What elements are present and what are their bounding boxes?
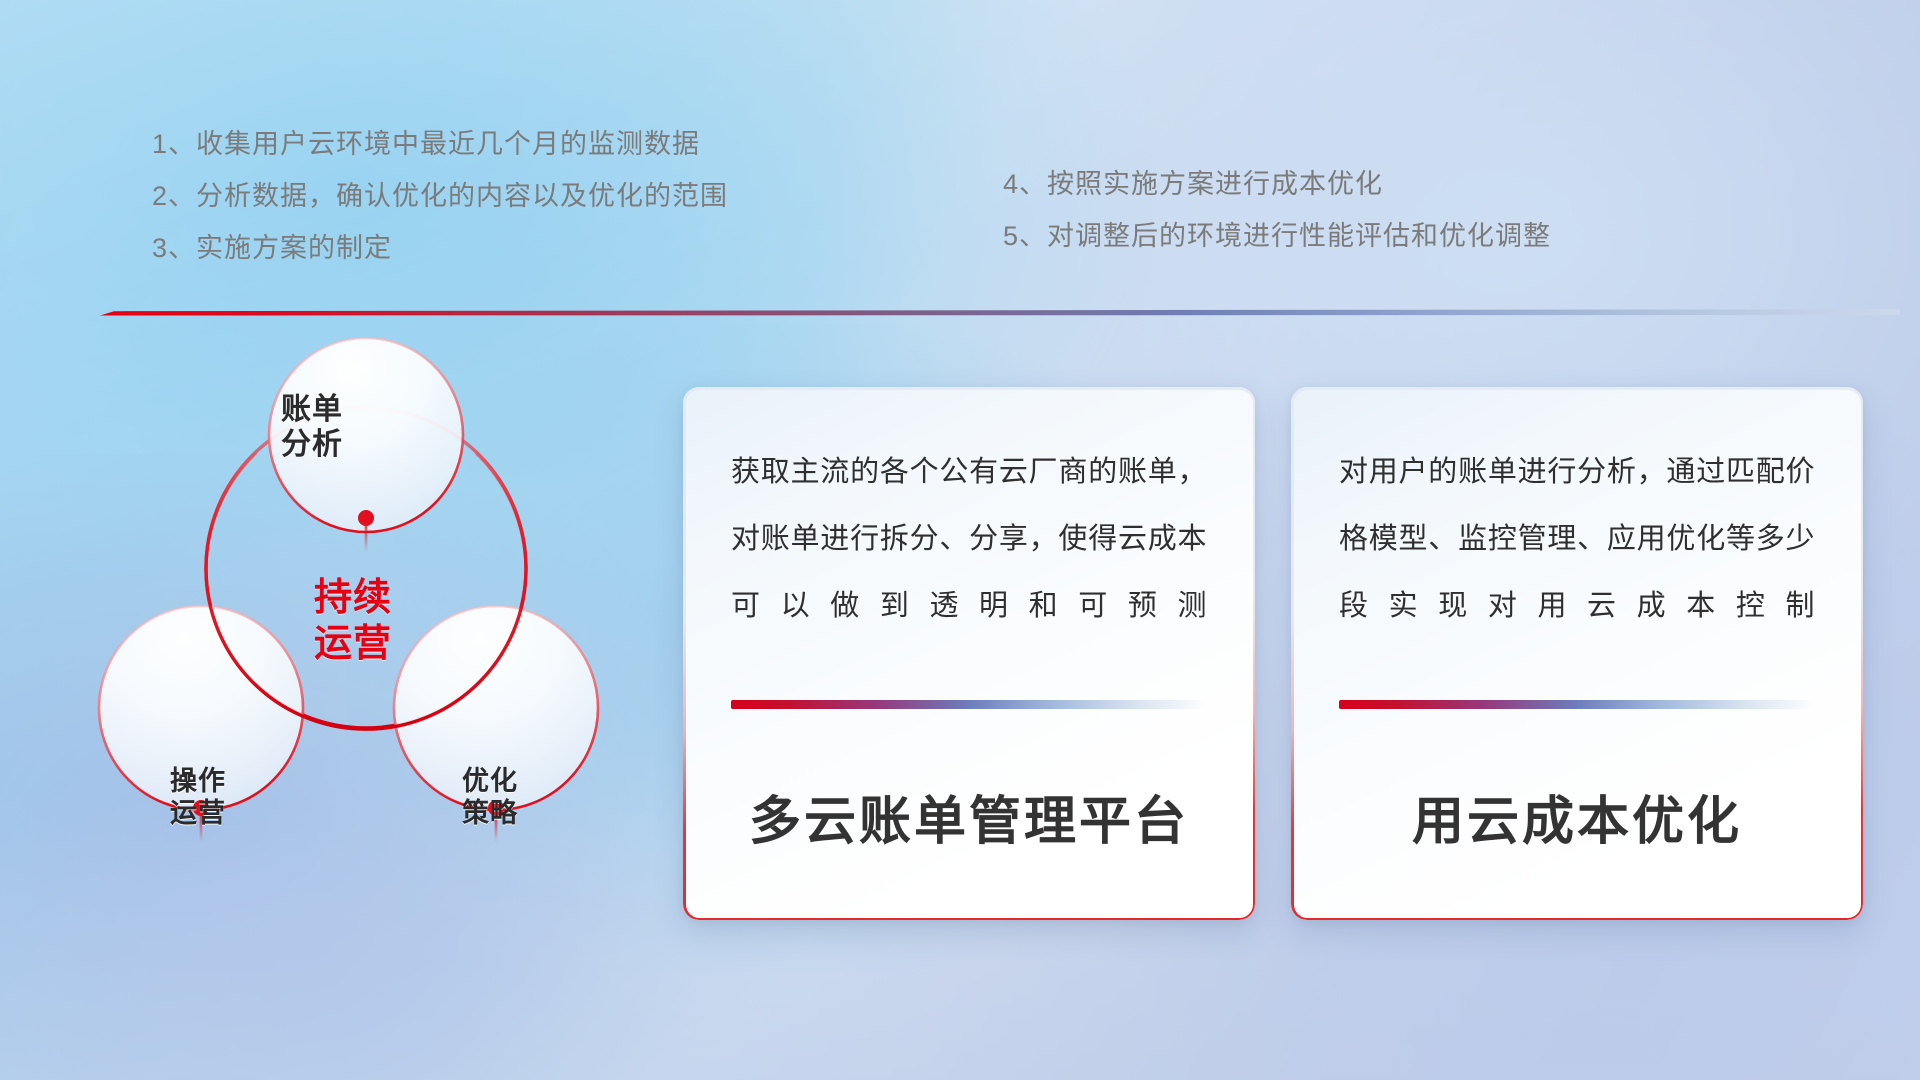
venn-center-label-line1: 持续 — [314, 577, 392, 619]
venn-label-bill-line1: 账单 — [281, 393, 343, 426]
venn-label-strategy-line2: 策略 — [462, 798, 518, 828]
step-item-2: 2、分析数据，确认优化的内容以及优化的范围 — [152, 170, 728, 222]
steps-list-left: 1、收集用户云环境中最近几个月的监测数据 2、分析数据，确认优化的内容以及优化的… — [152, 118, 728, 274]
feature-card-cloud-cost-optimization[interactable]: 对用户的账单进行分析，通过匹配价格模型、监控管理、应用优化等多少段实现对用云成本… — [1291, 387, 1863, 920]
step-item-4: 4、按照实施方案进行成本优化 — [1003, 158, 1551, 210]
card-title: 用云成本优化 — [1291, 779, 1863, 854]
venn-label-strategy-line1: 优化 — [462, 766, 518, 796]
venn-label-bill-line2: 分析 — [281, 428, 343, 461]
card-accent-rule — [1339, 700, 1815, 709]
venn-label-optimization-strategy: 优化 策略 — [400, 766, 580, 830]
steps-list-right: 4、按照实施方案进行成本优化 5、对调整后的环境进行性能评估和优化调整 — [1003, 158, 1551, 262]
card-body-text: 获取主流的各个公有云厂商的账单，对账单进行拆分、分享，使得云成本可以做到透明和可… — [731, 439, 1207, 640]
card-body-text: 对用户的账单进行分析，通过匹配价格模型、监控管理、应用优化等多少段实现对用云成本… — [1339, 439, 1815, 640]
card-title: 多云账单管理平台 — [683, 779, 1255, 854]
step-item-1: 1、收集用户云环境中最近几个月的监测数据 — [152, 118, 728, 170]
venn-center-label-line2: 运营 — [314, 623, 392, 665]
venn-label-ops-line2: 运营 — [170, 798, 226, 828]
venn-label-operations: 操作 运营 — [108, 766, 288, 830]
feature-card-multi-cloud-bill-platform[interactable]: 获取主流的各个公有云厂商的账单，对账单进行拆分、分享，使得云成本可以做到透明和可… — [683, 387, 1255, 920]
section-divider-line — [100, 306, 1900, 318]
venn-label-bill-analysis: 账单 分析 — [222, 392, 402, 463]
venn-label-ops-line1: 操作 — [170, 766, 226, 796]
step-item-5: 5、对调整后的环境进行性能评估和优化调整 — [1003, 210, 1551, 262]
venn-node-top — [358, 510, 374, 526]
step-item-3: 3、实施方案的制定 — [152, 222, 728, 274]
card-accent-rule — [731, 700, 1207, 709]
venn-center-label: 持续 运营 — [258, 575, 448, 668]
